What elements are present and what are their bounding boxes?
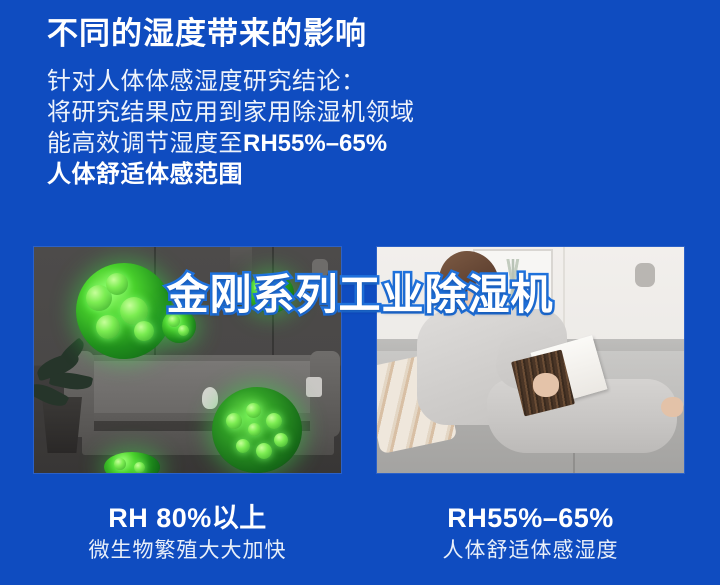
caption-description: 人体舒适体感湿度 — [377, 536, 684, 566]
cup-icon — [306, 377, 322, 397]
microbe-icon — [212, 387, 302, 473]
intro-line-4: 人体舒适体感范围 — [47, 159, 687, 190]
intro-line-1: 针对人体体感湿度研究结论： — [47, 66, 687, 97]
product-title-overlay: 金刚系列工业除湿机 — [0, 272, 720, 318]
header-block: 不同的湿度带来的影响 针对人体体感湿度研究结论： 将研究结果应用到家用除湿机领域… — [47, 14, 687, 190]
caption-description: 微生物繁殖大大加快 — [34, 536, 341, 566]
caption-value: RH55%–65% — [377, 500, 684, 536]
intro-paragraph: 针对人体体感湿度研究结论： 将研究结果应用到家用除湿机领域 能高效调节湿度至RH… — [47, 66, 687, 190]
intro-line-3-normal: 能高效调节湿度至 — [47, 130, 243, 157]
caption-value: RH 80%以上 — [34, 500, 341, 536]
intro-line-3: 能高效调节湿度至RH55%–65% — [47, 128, 687, 159]
caption-group: RH 80%以上 微生物繁殖大大加快 RH55%–65% 人体舒适体感湿度 — [0, 500, 720, 585]
intro-line-2: 将研究结果应用到家用除湿机领域 — [47, 97, 687, 128]
microbe-icon — [104, 452, 160, 473]
caption-high-humidity: RH 80%以上 微生物繁殖大大加快 — [34, 500, 341, 566]
vase-icon — [202, 387, 218, 409]
promo-poster: 不同的湿度带来的影响 针对人体体感湿度研究结论： 将研究结果应用到家用除湿机领域… — [0, 0, 720, 585]
page-title: 不同的湿度带来的影响 — [47, 14, 687, 54]
person-foot — [661, 397, 683, 417]
person-hand — [533, 373, 559, 397]
caption-comfort-humidity: RH55%–65% 人体舒适体感湿度 — [377, 500, 684, 566]
intro-line-3-humidity-range: RH55%–65% — [243, 130, 387, 157]
